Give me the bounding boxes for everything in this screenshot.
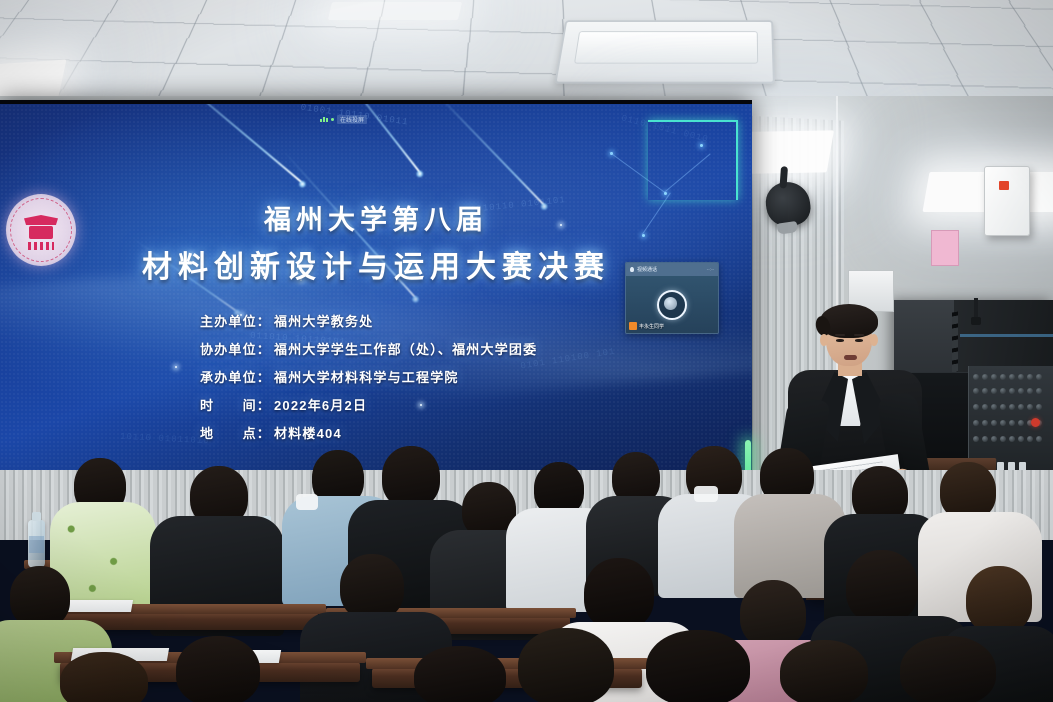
cassette-air-conditioner-icon [554,20,775,84]
head [60,652,148,702]
presenter-eyebrow [854,334,864,336]
overlay-badge-label: 丰永生同学 [639,323,664,330]
rack-shelf [960,334,1053,337]
head [340,554,404,620]
head [584,558,654,630]
led-display-screen: 01001 10110 01011 1010110 0101101 011010… [0,100,752,492]
meta-label: 时 间： [200,392,274,420]
meta-value: 福州大学学生工作部（处）、福州大学团委 [274,342,537,357]
head [518,628,614,702]
ac-vent [578,35,625,62]
water-bottle [28,520,45,568]
avatar [657,290,687,320]
head [900,636,996,702]
star-sparkle [175,366,177,368]
overlay-body: 丰永生同学 [626,276,718,333]
corner-bracket-decoration [648,120,738,200]
mixer-knob-row[interactable] [973,388,1042,394]
meta-value: 福州大学材料科学与工程学院 [274,370,459,385]
audience-seating-area [0,440,1053,702]
pink-label-sticker [931,230,959,266]
meta-label: 主办单位： [200,308,274,336]
fire-alarm-panel-icon [984,166,1030,236]
meta-label: 协办单位： [200,336,274,364]
badge-square-icon [629,322,637,330]
overlay-badge: 丰永生同学 [629,322,664,330]
presenter-eyebrow [835,334,845,336]
presenter-ear [820,334,828,346]
status-dot-icon [331,118,334,121]
slide-meta-row: 承办单位：福州大学材料科学与工程学院 [200,364,537,392]
presenter-eye [855,339,863,342]
ceiling-light-panel [328,2,462,20]
head [382,446,440,508]
slide-meta-row: 协办单位：福州大学学生工作部（处）、福州大学团委 [200,336,537,364]
signal-icon [320,117,328,122]
hanging-cable [974,298,978,320]
panel-label [999,181,1009,190]
face-mask [296,494,318,510]
overlay-title: 视频通话 [637,266,657,273]
slide-title-line1: 福州大学第八届 [264,205,488,235]
meta-value: 2022年6月2日 [274,398,367,413]
mixer-record-indicator[interactable] [1031,418,1040,427]
ceiling [0,0,1053,108]
mixer-knob-row[interactable] [973,374,1042,380]
presenter-eye [836,339,844,342]
mixer-knob-row[interactable] [973,404,1042,410]
meta-label: 承办单位： [200,364,274,392]
meta-value: 材料楼404 [274,426,342,441]
head [176,636,260,702]
head [414,646,506,702]
head [966,566,1032,634]
slide-meta-row: 主办单位：福州大学教务处 [200,308,537,336]
head [646,630,750,702]
head [10,566,70,628]
overlay-time: --:-- [707,267,714,272]
presenter-mouth [844,355,857,360]
screen-status-chip: 在线投屏 [320,115,367,124]
video-call-overlay-window[interactable]: 视频通话 --:-- 丰永生同学 [625,262,719,334]
head [846,550,918,624]
head [780,640,868,702]
face-mask [694,486,718,502]
user-icon [630,267,634,272]
presenter-hair [820,304,878,338]
presenter-ear [870,334,878,346]
slide-meta-row: 时 间：2022年6月2日 [200,392,537,420]
head [740,580,806,648]
overlay-title-bar[interactable]: 视频通话 --:-- [626,263,718,276]
slide-meta-block: 主办单位：福州大学教务处 协办单位：福州大学学生工作部（处）、福州大学团委 承办… [200,308,537,448]
meta-value: 福州大学教务处 [274,314,373,329]
ceiling-tile-grid [0,0,1053,108]
lecture-hall-photo: 01001 10110 01011 1010110 0101101 011010… [0,0,1053,702]
desk-paper [59,600,133,612]
status-chip-label: 在线投屏 [337,115,367,124]
presentation-slide: 01001 10110 01011 1010110 0101101 011010… [0,104,752,480]
